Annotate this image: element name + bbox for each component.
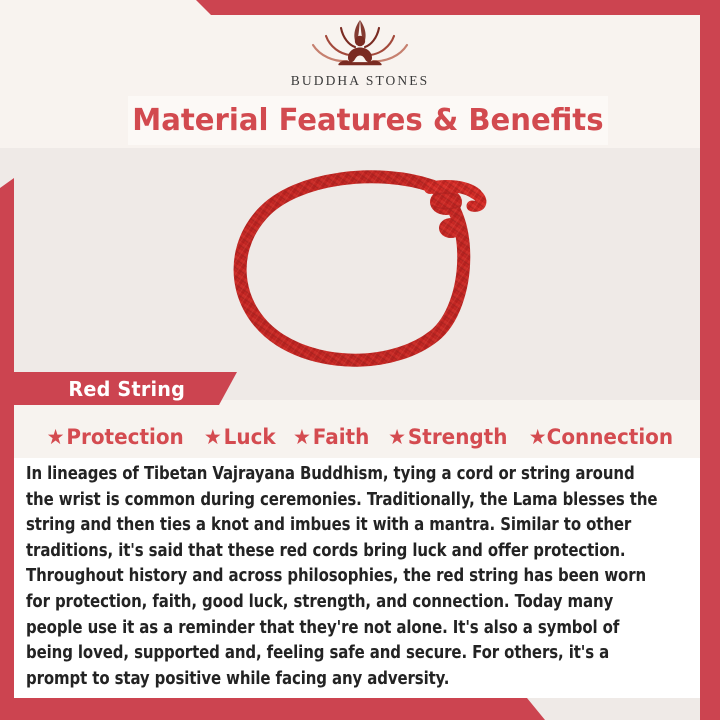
benefit-label: Connection (547, 425, 673, 449)
benefit-item-connection: ★ Connection (529, 425, 673, 449)
red-string-bracelet-illustration (180, 150, 540, 378)
benefit-item-faith: ★ Faith (293, 425, 369, 449)
benefits-row: ★ Protection ★ Luck ★ Faith ★ Strength ★… (14, 418, 706, 456)
benefit-label: Faith (313, 425, 370, 449)
frame-bar-right (700, 0, 720, 720)
benefit-label: Protection (67, 425, 184, 449)
star-icon: ★ (47, 427, 65, 448)
benefit-item-strength: ★ Strength (389, 425, 508, 449)
star-icon: ★ (293, 427, 311, 448)
product-name-ribbon: Red String (14, 372, 237, 405)
description-text: In lineages of Tibetan Vajrayana Buddhis… (26, 462, 658, 692)
product-image (180, 150, 540, 378)
page-title: Material Features & Benefits (132, 103, 603, 138)
frame-bar-left (0, 178, 14, 720)
frame-bar-bottom (0, 698, 720, 720)
benefit-item-protection: ★ Protection (47, 425, 184, 449)
star-icon: ★ (529, 427, 547, 448)
description-card: In lineages of Tibetan Vajrayana Buddhis… (14, 458, 700, 698)
brand-name: BUDDHA STONES (291, 73, 429, 89)
star-icon: ★ (389, 427, 407, 448)
brand-logo: BUDDHA STONES (0, 16, 720, 94)
infographic-page: BUDDHA STONES Material Features & Benefi… (0, 0, 720, 720)
benefit-label: Luck (223, 425, 275, 449)
star-icon: ★ (203, 427, 221, 448)
title-banner: Material Features & Benefits (128, 96, 608, 145)
product-name-label: Red String (68, 377, 185, 401)
benefit-label: Strength (408, 425, 507, 449)
benefit-item-luck: ★ Luck (203, 425, 275, 449)
lotus-meditation-icon (301, 16, 419, 72)
